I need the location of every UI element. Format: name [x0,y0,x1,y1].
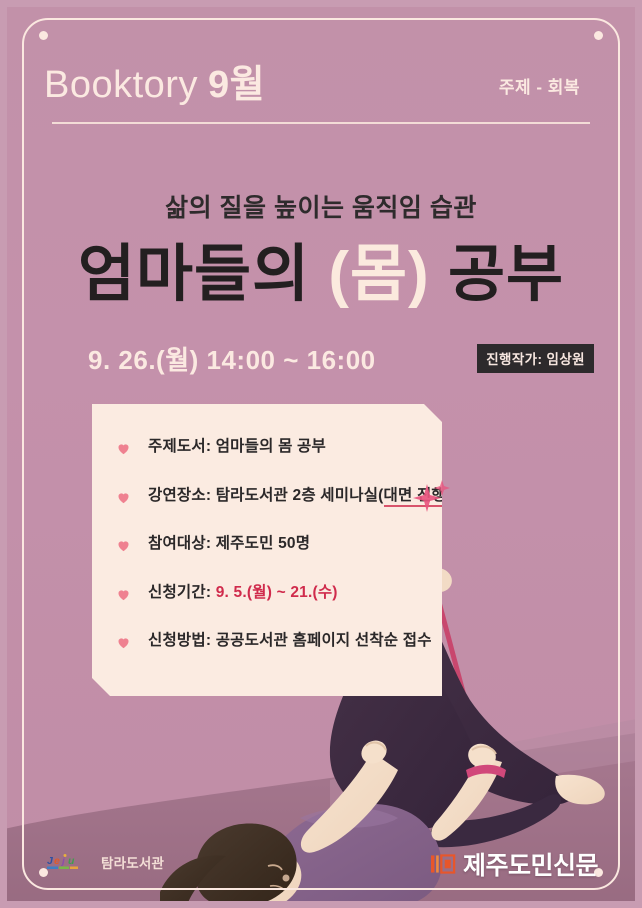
presenter-badge: 진행작가: 임상원 [477,344,594,373]
svg-text:e: e [54,855,60,867]
info-label-venue: 강연장소: [148,487,211,504]
info-row-subject-book: 주제도서: 엄마들의 몸 공부 [92,438,442,457]
info-label-subject-book: 주제도서: [148,438,211,455]
info-value-audience: 제주도민 50명 [216,535,310,552]
info-row-venue: 강연장소: 탐라도서관 2층 세미나실(대면 진행) [92,487,442,506]
brand-title: Booktory9월 [44,66,265,104]
info-row-audience: 참여대상: 제주도민 50명 [92,535,442,554]
poster-root: Booktory9월 주제 - 회복 삶의 질을 높이는 움직임 습관 엄마들의… [0,0,642,908]
heart-icon [116,587,131,602]
main-title: 엄마들의 (몸) 공부 [0,240,642,309]
frame-dot-top-left [39,31,48,40]
info-card: 주제도서: 엄마들의 몸 공부 강연장소: 탐라도서관 2층 세미나실(대면 진… [92,404,442,696]
event-datetime: 9. 26.(월) 14:00 ~ 16:00 [88,340,376,377]
info-value-subject-book: 엄마들의 몸 공부 [216,438,326,455]
info-row-application-method: 신청방법: 공공도서관 홈페이지 선착순 접수 [92,632,442,651]
info-value-venue-underlined: 대면 진행 [384,487,446,507]
info-text-application-period: 신청기간: 9. 5.(월) ~ 21.(수) [148,584,338,603]
info-value-venue-end: ) [446,487,451,504]
frame-dot-top-right [594,31,603,40]
footer-right: 제주도민신문 [430,846,598,882]
info-value-venue: 탐라도서관 2층 세미나실( [216,487,384,504]
heart-icon [116,635,131,650]
main-title-part2: 공부 [448,240,564,309]
info-text-venue: 강연장소: 탐라도서관 2층 세미나실(대면 진행) [148,487,451,506]
main-title-part1: 엄마들의 [78,240,310,309]
brand-month: 9월 [208,64,265,106]
info-label-application-period: 신청기간: [148,584,211,601]
svg-text:u: u [68,855,75,867]
info-value-application-method: 공공도서관 홈페이지 선착순 접수 [216,632,432,649]
heart-icon [116,538,131,553]
jeju-logo-icon: J e j u [46,852,92,872]
brand-name: Booktory [44,64,198,106]
info-text-subject-book: 주제도서: 엄마들의 몸 공부 [148,438,326,457]
header-divider [52,122,590,124]
heart-icon [116,441,131,456]
info-label-application-method: 신청방법: [148,632,211,649]
info-row-application-period: 신청기간: 9. 5.(월) ~ 21.(수) [92,584,442,603]
info-text-audience: 참여대상: 제주도민 50명 [148,535,310,554]
main-title-highlight: (몸) [328,240,429,309]
newspaper-book-icon [430,852,456,876]
topic-label: 주제 - 회복 [499,73,580,98]
poster-header: Booktory9월 주제 - 회복 [44,56,598,114]
library-name: 탐라도서관 [101,852,164,872]
info-text-application-method: 신청방법: 공공도서관 홈페이지 선착순 접수 [148,632,432,651]
footer-left: J e j u 탐라도서관 [46,852,164,872]
heart-icon [116,490,131,505]
info-value-application-period: 9. 5.(월) ~ 21.(수) [216,584,338,601]
svg-text:J: J [47,855,54,867]
newspaper-name: 제주도민신문 [463,846,598,882]
info-label-audience: 참여대상: [148,535,211,552]
subtitle: 삶의 질을 높이는 움직임 습관 [0,188,642,224]
